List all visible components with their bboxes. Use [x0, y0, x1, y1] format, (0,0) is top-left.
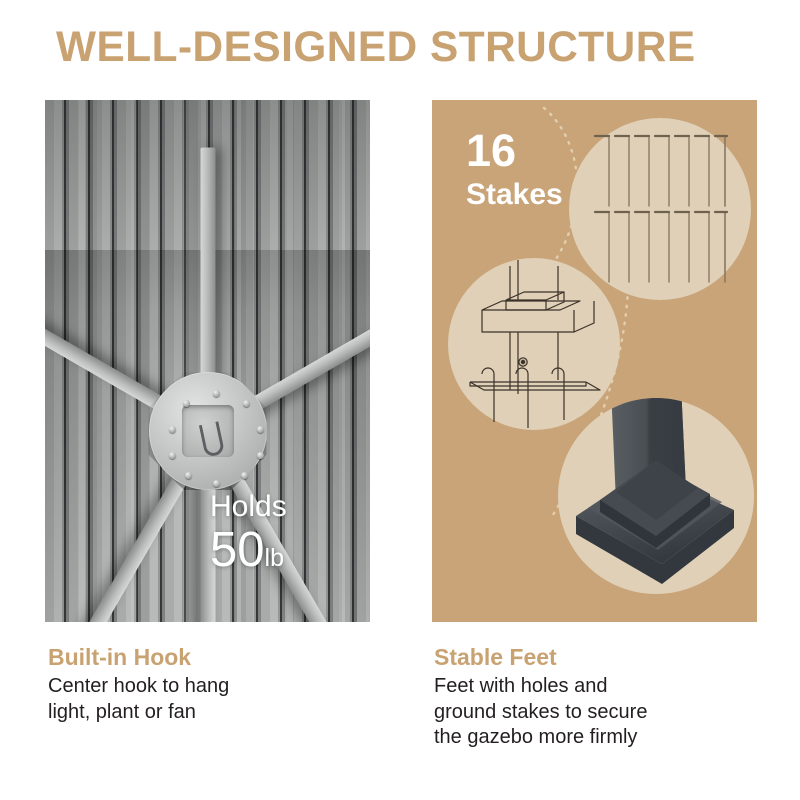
holds-unit: lb [265, 544, 284, 572]
stakes-count-label: Stakes [466, 180, 563, 210]
infographic-page: WELL-DESIGNED STRUCTURE [0, 0, 800, 800]
gazebo-roof-photo [45, 100, 370, 622]
hub-bolt [185, 472, 192, 479]
holds-weight-overlay: Holds 50lb [210, 492, 287, 575]
right-caption-heading: Stable Feet [434, 644, 764, 670]
hub-bolt [213, 480, 220, 487]
stakes-count-badge: 16 Stakes [466, 128, 563, 210]
right-graphic-panel: 16 Stakes [432, 100, 757, 622]
page-title: WELL-DESIGNED STRUCTURE [56, 22, 746, 72]
hub-bolt [169, 426, 176, 433]
holds-value-line: 50lb [210, 526, 287, 575]
hub-bolt [241, 472, 248, 479]
left-caption-body: Center hook to hang light, plant or fan [48, 674, 388, 725]
left-caption: Built-in Hook Center hook to hang light,… [48, 644, 388, 725]
holds-value: 50 [210, 523, 265, 577]
right-caption-body: Feet with holes and ground stakes to sec… [434, 674, 764, 750]
hub-bolt [257, 426, 264, 433]
left-caption-heading: Built-in Hook [48, 644, 388, 670]
stakes-count-number: 16 [466, 128, 563, 173]
holds-label: Holds [210, 492, 287, 522]
stable-foot-photo-icon [558, 398, 754, 594]
hub-bolt [183, 400, 190, 407]
left-image-panel: Holds 50lb [45, 100, 370, 622]
hub-bolt [169, 452, 176, 459]
hub-bolt [213, 390, 220, 397]
hub-bolt [243, 400, 250, 407]
right-caption: Stable Feet Feet with holes and ground s… [434, 644, 764, 751]
hub-bolt [257, 452, 264, 459]
